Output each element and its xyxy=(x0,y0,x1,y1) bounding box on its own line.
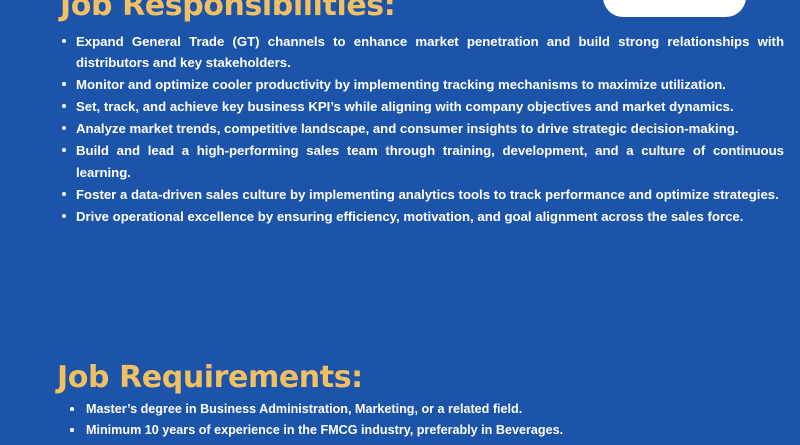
list-item: Minimum 10 years of experience in the FM… xyxy=(64,420,764,441)
job-requirements-list: Master’s degree in Business Administrati… xyxy=(64,399,764,441)
bullet-dot-icon xyxy=(62,148,66,152)
list-item: Build and lead a high-performing sales t… xyxy=(58,140,784,182)
list-item-text: Foster a data-driven sales culture by im… xyxy=(76,184,784,205)
bullet-dot-icon xyxy=(70,407,74,411)
list-item: Monitor and optimize cooler productivity… xyxy=(58,74,784,95)
job-responsibilities-list: Expand General Trade (GT) channels to en… xyxy=(58,31,784,228)
bullet-dot-icon xyxy=(62,214,66,218)
list-item: Analyze market trends, competitive lands… xyxy=(58,118,784,139)
list-item-text: Expand General Trade (GT) channels to en… xyxy=(76,31,784,73)
list-item: Drive operational excellence by ensuring… xyxy=(58,206,784,227)
list-item: Expand General Trade (GT) channels to en… xyxy=(58,31,784,73)
bullet-dot-icon xyxy=(62,104,66,108)
bullet-dot-icon xyxy=(62,126,66,130)
list-item-text: Minimum 10 years of experience in the FM… xyxy=(86,420,764,441)
bullet-dot-icon xyxy=(62,82,66,86)
list-item-text: Master’s degree in Business Administrati… xyxy=(86,399,764,420)
job-posting-poster: Job Responsibilities: Expand General Tra… xyxy=(0,0,800,445)
list-item: Foster a data-driven sales culture by im… xyxy=(58,184,784,205)
list-item: Master’s degree in Business Administrati… xyxy=(64,399,764,420)
list-item-text: Analyze market trends, competitive lands… xyxy=(76,118,784,139)
bullet-dot-icon xyxy=(62,39,66,43)
bullet-dot-icon xyxy=(70,428,74,432)
list-item: Set, track, and achieve key business KPI… xyxy=(58,96,784,117)
list-item-text: Build and lead a high-performing sales t… xyxy=(76,140,784,182)
job-responsibilities-heading: Job Responsibilities: xyxy=(60,0,395,21)
list-item-text: Drive operational excellence by ensuring… xyxy=(76,206,784,227)
list-item-text: Monitor and optimize cooler productivity… xyxy=(76,74,784,95)
job-requirements-heading: Job Requirements: xyxy=(57,363,363,393)
bullet-dot-icon xyxy=(62,192,66,196)
logo-badge xyxy=(603,0,746,17)
list-item-text: Set, track, and achieve key business KPI… xyxy=(76,96,784,117)
